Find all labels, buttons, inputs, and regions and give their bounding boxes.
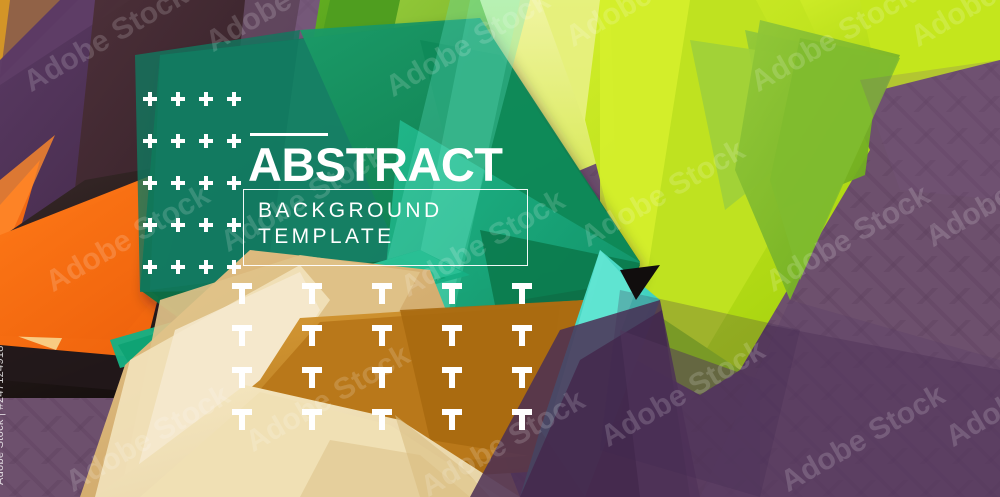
title-rule xyxy=(250,133,328,136)
headline-block: ABSTRACT xyxy=(248,133,538,190)
subtitle-line-2: TEMPLATE xyxy=(258,224,538,250)
subtitle-line-1: BACKGROUND xyxy=(258,198,538,224)
abstract-background-canvas: ABSTRACT BACKGROUND TEMPLATE Adobe Stock… xyxy=(0,0,1000,497)
subtitle-text: BACKGROUND TEMPLATE xyxy=(258,198,538,250)
page-title: ABSTRACT xyxy=(248,140,538,190)
